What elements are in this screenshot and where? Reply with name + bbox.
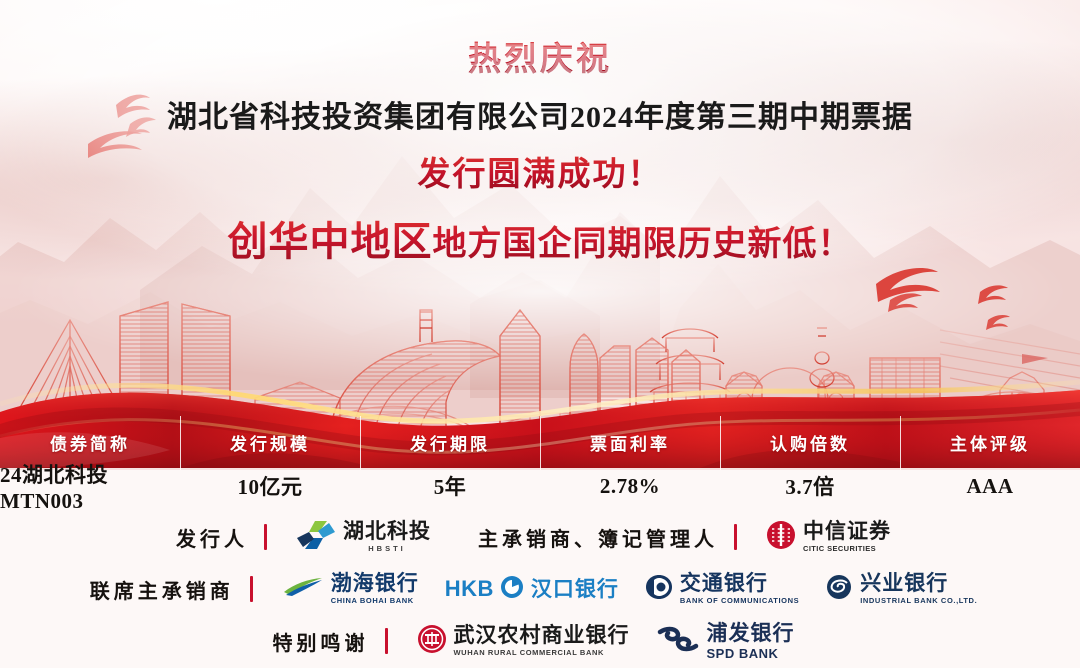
table-cell-size: 10亿元 [180,466,360,506]
cib-spiral-icon [825,574,853,605]
citic-name-cn: 中信证券 [803,521,891,542]
citic-circle-icon [766,520,796,555]
bocom-text: 交通银行 BANK OF COMMUNICATIONS [680,573,799,605]
bond-table-header: 债券简称 发行规模 发行期限 票面利率 认购倍数 主体评级 [0,424,1080,460]
issuer-label: 发行人 [176,523,248,552]
wrcb-name-cn: 武汉农村商业银行 [454,625,630,646]
headline-cheer: 热烈庆祝 [0,32,1080,80]
table-cell-bond-name: 24湖北科投MTN003 [0,466,180,506]
citic-name-en: CITIC SECURITIES [803,545,891,553]
divider-bar [264,524,267,550]
lead-underwriter-label: 主承销商、簿记管理人 [478,523,718,552]
celebration-poster: 热烈庆祝 湖北省科技投资集团有限公司2024年度第三期中期票据 发行圆满成功！ … [0,0,1080,668]
hkb-name-cn: 汉口银行 [531,579,619,600]
logo-industrial-bank: 兴业银行 INDUSTRIAL BANK CO.,LTD. [825,573,977,605]
hkb-text: 汉口银行 [531,579,619,600]
hbsti-name-cn: 湖北科投 [343,521,431,542]
spd-name-cn: 浦发银行 [707,623,795,644]
headline-record-rest: 地方国企同期限历史新低！ [433,226,853,263]
citic-text: 中信证券 CITIC SECURITIES [803,521,891,553]
special-thanks-label: 特别鸣谢 [273,627,369,656]
cib-text: 兴业银行 INDUSTRIAL BANK CO.,LTD. [860,573,977,605]
joint-underwriters-label: 联席主承销商 [90,575,234,604]
headline-record: 创华中地区地方国企同期限历史新低！ [0,209,1080,267]
table-header-cell: 发行规模 [180,424,360,460]
wrcb-text: 武汉农村商业银行 WUHAN RURAL COMMERCIAL BANK [454,625,630,657]
divider-bar [250,576,253,602]
bond-table-row: 24湖北科投MTN003 10亿元 5年 2.78% 3.7倍 AAA [0,466,1080,506]
table-cell-tenor: 5年 [360,466,540,506]
spd-text: 浦发银行 SPD BANK [707,623,795,660]
logo-bohai-bank: 渤海银行 CHINA BOHAI BANK [282,573,419,605]
spd-name-en: SPD BANK [707,647,795,660]
headline-record-highlight: 创华中地区 [228,219,433,264]
hbsti-text: 湖北科投 HBSTI [343,521,431,553]
participants-section: 发行人 湖北科投 HBSTI 主承销商、簿记管理人 [0,511,1080,667]
cib-name-cn: 兴业银行 [860,573,977,594]
bohai-text: 渤海银行 CHINA BOHAI BANK [331,573,419,605]
logo-hankou-bank: HKB 汉口银行 [445,575,619,604]
wrcb-circle-icon [417,624,447,659]
cib-name-en: INDUSTRIAL BANK CO.,LTD. [860,597,977,605]
logo-citic-securities: 中信证券 CITIC SECURITIES [766,520,891,555]
special-thanks-row: 特别鸣谢 武汉农村商业银行 WUHAN RURAL COMMERCIAL BAN… [0,615,1080,667]
bocom-name-en: BANK OF COMMUNICATIONS [680,597,799,605]
table-header-cell: 票面利率 [540,424,720,460]
table-cell-coupon: 2.78% [540,466,720,506]
logo-wuhan-rural-commercial-bank: 武汉农村商业银行 WUHAN RURAL COMMERCIAL BANK [417,624,630,659]
headline-success: 发行圆满成功！ [0,147,1080,195]
table-header-cell: 发行期限 [360,424,540,460]
bocom-coin-icon [645,574,673,605]
table-cell-subscription: 3.7倍 [720,466,900,506]
logo-spd-bank: 浦发银行 SPD BANK [656,623,795,660]
table-header-cell: 主体评级 [900,424,1080,460]
logo-hbsti: 湖北科投 HBSTI [296,518,431,557]
table-header-cell: 认购倍数 [720,424,900,460]
bohai-wave-icon [282,576,324,603]
divider-bar [385,628,388,654]
spd-mark-icon [656,626,700,657]
headline-block: 热烈庆祝 湖北省科技投资集团有限公司2024年度第三期中期票据 发行圆满成功！ … [0,0,1080,267]
logo-bank-of-communications: 交通银行 BANK OF COMMUNICATIONS [645,573,799,605]
hkb-abbrev: HKB [445,576,494,602]
divider-bar [734,524,737,550]
hbsti-name-en: HBSTI [343,545,431,553]
bohai-name-cn: 渤海银行 [331,573,419,594]
wrcb-name-en: WUHAN RURAL COMMERCIAL BANK [454,649,630,657]
issuer-row: 发行人 湖北科投 HBSTI 主承销商、簿记管理人 [0,511,1080,563]
bohai-name-en: CHINA BOHAI BANK [331,597,419,605]
table-cell-rating: AAA [900,466,1080,506]
hbsti-pinwheel-icon [296,518,336,557]
hkb-circle-icon [500,575,524,604]
table-header-cell: 债券简称 [0,424,180,460]
bocom-name-cn: 交通银行 [680,573,799,594]
headline-company: 湖北省科技投资集团有限公司2024年度第三期中期票据 [0,92,1080,136]
joint-underwriters-row: 联席主承销商 渤海银行 CHINA BOHAI BANK HKB [0,563,1080,615]
